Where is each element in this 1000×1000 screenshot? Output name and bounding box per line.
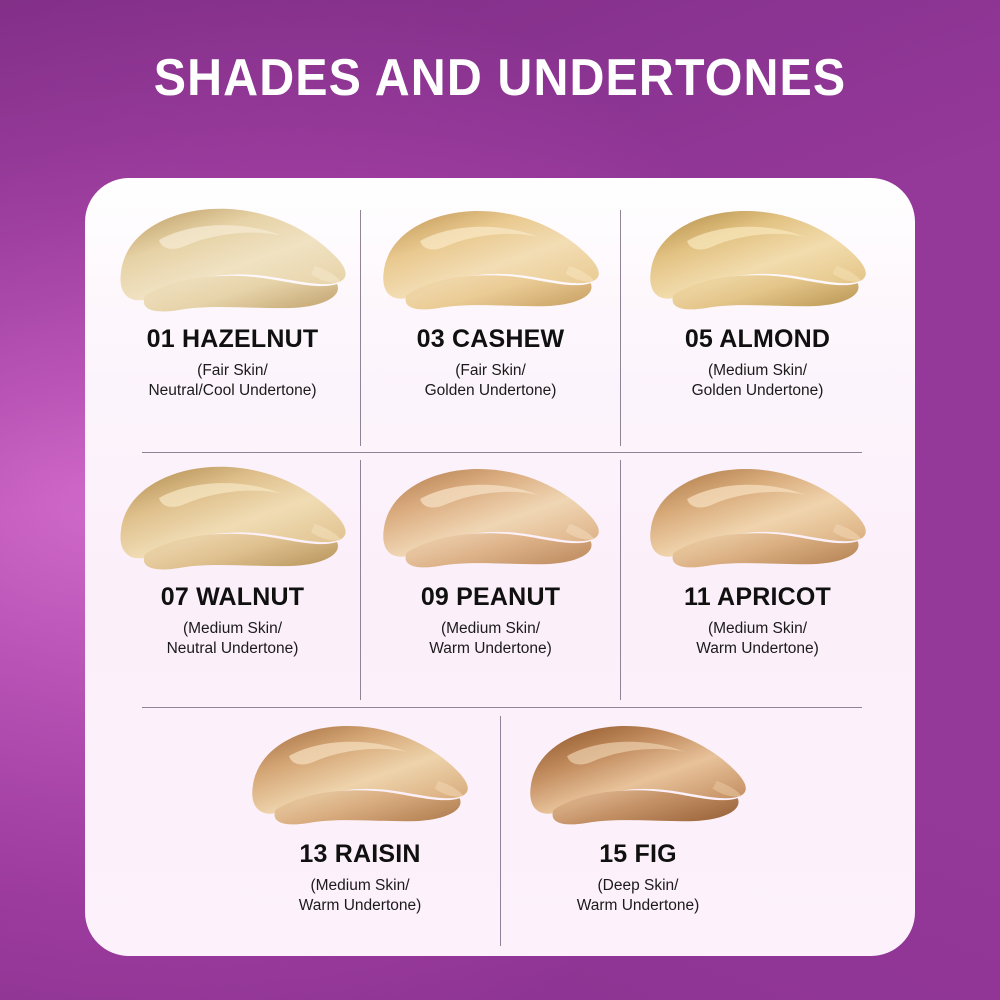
shade-description-line-1: (Fair Skin/	[425, 361, 557, 381]
shade-description-line-2: Golden Undertone)	[692, 381, 824, 401]
shade-description-line-2: Neutral/Cool Undertone)	[148, 381, 316, 401]
shade-cell-13-raisin[interactable]: 13 RAISIN (Medium Skin/ Warm Undertone)	[235, 715, 485, 916]
shade-description-line-1: (Medium Skin/	[429, 619, 552, 639]
col-divider-r1-2	[620, 210, 621, 446]
shade-description-line-1: (Medium Skin/	[299, 876, 422, 896]
shade-description-line-1: (Deep Skin/	[577, 876, 700, 896]
page-title: SHADES AND UNDERTONES	[35, 48, 965, 108]
shade-swatch-07-walnut	[105, 458, 360, 583]
shade-swatch-03-cashew	[368, 200, 613, 325]
shade-cell-15-fig[interactable]: 15 FIG (Deep Skin/ Warm Undertone)	[513, 715, 763, 916]
shade-description-line-1: (Fair Skin/	[148, 361, 316, 381]
shade-swatch-13-raisin	[235, 715, 485, 840]
shades-card: 01 HAZELNUT (Fair Skin/ Neutral/Cool Und…	[85, 178, 915, 956]
shade-swatch-01-hazelnut	[105, 200, 360, 325]
shade-cell-09-peanut[interactable]: 09 PEANUT (Medium Skin/ Warm Undertone)	[368, 458, 613, 659]
shade-description: (Medium Skin/ Warm Undertone)	[299, 876, 422, 916]
shade-name: 03 CASHEW	[417, 325, 565, 354]
shade-swatch-11-apricot	[630, 458, 885, 583]
shade-description-line-1: (Medium Skin/	[696, 619, 819, 639]
shade-description-line-1: (Medium Skin/	[167, 619, 299, 639]
shade-cell-05-almond[interactable]: 05 ALMOND (Medium Skin/ Golden Undertone…	[630, 200, 885, 401]
shade-description: (Medium Skin/ Warm Undertone)	[429, 619, 552, 659]
shade-description: (Fair Skin/ Neutral/Cool Undertone)	[148, 361, 316, 401]
shade-name: 15 FIG	[599, 840, 677, 869]
shade-description: (Medium Skin/ Neutral Undertone)	[167, 619, 299, 659]
shade-swatch-09-peanut	[368, 458, 613, 583]
col-divider-r1-1	[360, 210, 361, 446]
shade-description: (Deep Skin/ Warm Undertone)	[577, 876, 700, 916]
shade-cell-07-walnut[interactable]: 07 WALNUT (Medium Skin/ Neutral Underton…	[105, 458, 360, 659]
shade-description-line-2: Warm Undertone)	[299, 896, 422, 916]
col-divider-r2-1	[360, 460, 361, 700]
shade-name: 09 PEANUT	[421, 583, 560, 612]
shade-cell-01-hazelnut[interactable]: 01 HAZELNUT (Fair Skin/ Neutral/Cool Und…	[105, 200, 360, 401]
col-divider-r2-2	[620, 460, 621, 700]
shade-cell-03-cashew[interactable]: 03 CASHEW (Fair Skin/ Golden Undertone)	[368, 200, 613, 401]
shade-cell-11-apricot[interactable]: 11 APRICOT (Medium Skin/ Warm Undertone)	[630, 458, 885, 659]
shade-name: 05 ALMOND	[685, 325, 830, 354]
shade-swatch-05-almond	[630, 200, 885, 325]
shade-name: 01 HAZELNUT	[147, 325, 319, 354]
shade-description-line-2: Warm Undertone)	[429, 639, 552, 659]
shades-grid: 01 HAZELNUT (Fair Skin/ Neutral/Cool Und…	[85, 178, 915, 956]
shade-name: 13 RAISIN	[299, 840, 420, 869]
shade-description-line-2: Warm Undertone)	[696, 639, 819, 659]
shade-description-line-2: Warm Undertone)	[577, 896, 700, 916]
row-divider-2	[142, 707, 862, 708]
shade-description-line-1: (Medium Skin/	[692, 361, 824, 381]
shade-description-line-2: Neutral Undertone)	[167, 639, 299, 659]
shade-description: (Fair Skin/ Golden Undertone)	[425, 361, 557, 401]
shade-description: (Medium Skin/ Golden Undertone)	[692, 361, 824, 401]
shade-description: (Medium Skin/ Warm Undertone)	[696, 619, 819, 659]
row-divider-1	[142, 452, 862, 453]
shade-name: 11 APRICOT	[684, 583, 831, 612]
shade-name: 07 WALNUT	[161, 583, 304, 612]
col-divider-r3-1	[500, 716, 501, 946]
shade-description-line-2: Golden Undertone)	[425, 381, 557, 401]
shade-swatch-15-fig	[513, 715, 763, 840]
